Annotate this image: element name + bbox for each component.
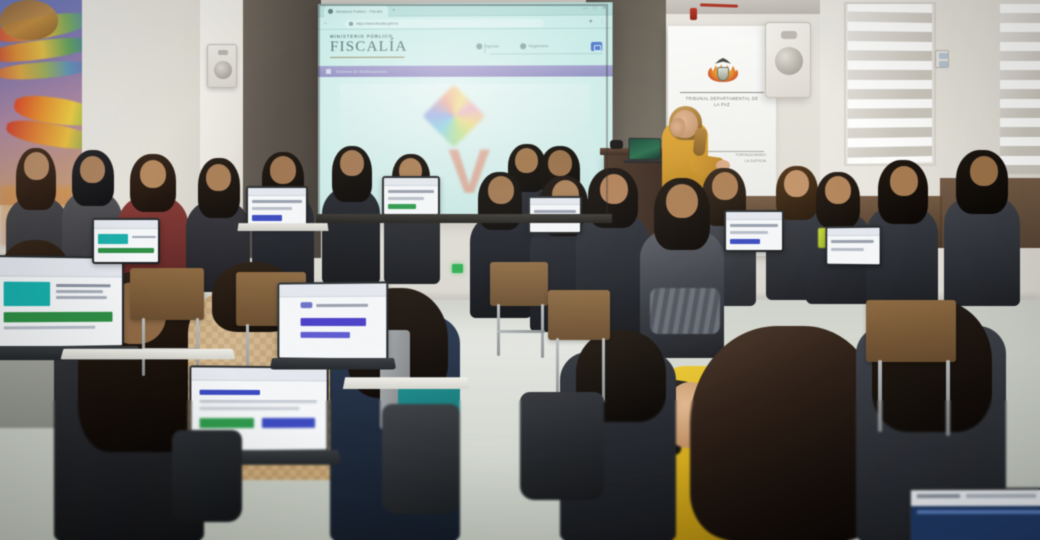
site-nav-bar[interactable]: Sistema de Notificaciones: [318, 65, 613, 77]
bolivia-coat-of-arms-icon: [706, 56, 740, 88]
light-switch-panel[interactable]: [935, 50, 949, 68]
logo-wordmark: FISCALÍA: [330, 40, 407, 55]
microphone-base: [610, 140, 623, 149]
banner-rule: [680, 92, 764, 93]
black-backpack-1: [382, 404, 460, 514]
wall-speaker-right: [765, 22, 811, 98]
header-link-login-label: Ingresar: [485, 44, 499, 48]
wall-speaker-left: [207, 44, 237, 88]
window-left: [848, 2, 932, 164]
header-link-login[interactable]: Ingresar: [476, 43, 499, 49]
window-controls[interactable]: — □ ✕: [583, 5, 609, 11]
favicon-icon: [328, 9, 333, 14]
chair-leg: [556, 338, 559, 400]
new-tab-button[interactable]: +: [392, 8, 395, 14]
chair-rail: [497, 330, 545, 333]
black-backpack-3: [172, 430, 242, 522]
header-link-register[interactable]: Registrarse: [520, 43, 549, 49]
grid-icon[interactable]: [591, 42, 602, 51]
exit-indicator-light: [452, 264, 463, 273]
user-plus-icon: [520, 43, 526, 49]
chair-leg: [602, 338, 605, 402]
chair-leg: [878, 360, 882, 432]
chair-back-1[interactable]: [130, 268, 204, 320]
photo-scene: Ministerio Publico - Fiscalia + — □ ✕ ← …: [0, 0, 1040, 540]
menu-icon[interactable]: [326, 69, 331, 74]
black-backpack-2: [520, 392, 604, 500]
address-bar[interactable]: https://www.fiscalia.gob.bo: [345, 19, 544, 28]
presenter-laptop-screen: [629, 138, 661, 160]
presenter-face: [670, 118, 685, 137]
desk-surface-center: [343, 377, 469, 389]
user-icon: [476, 43, 482, 49]
desk-surface-left: [61, 349, 236, 360]
browser-tab[interactable]: Ministerio Publico - Fiscalia: [324, 6, 388, 17]
chair-back-5[interactable]: [866, 300, 956, 362]
browser-menu-icon[interactable]: ★ ⋮: [588, 18, 607, 24]
site-logo: MINISTERIO PÚBLICO FISCALÍA: [330, 34, 407, 58]
site-nav-label: Sistema de Notificaciones: [336, 69, 387, 73]
url-text: https://www.fiscalia.gob.bo: [356, 22, 399, 26]
window-right: [1000, 4, 1040, 174]
screen-bottom-rail: [316, 214, 612, 223]
chair-back-3[interactable]: [490, 262, 548, 306]
logo-rule: [330, 56, 404, 58]
chair-back-4[interactable]: [548, 290, 610, 340]
fire-alarm: [690, 8, 697, 20]
browser-tab-title: Ministerio Publico - Fiscalia: [336, 9, 383, 13]
header-link-register-label: Registrarse: [529, 44, 549, 48]
back-icon[interactable]: ←: [323, 20, 331, 26]
header-divider: [484, 43, 485, 53]
chair-leg: [142, 318, 145, 376]
chair-leg: [946, 360, 950, 436]
lock-icon: [349, 22, 353, 26]
desk-surface-back: [237, 223, 328, 231]
